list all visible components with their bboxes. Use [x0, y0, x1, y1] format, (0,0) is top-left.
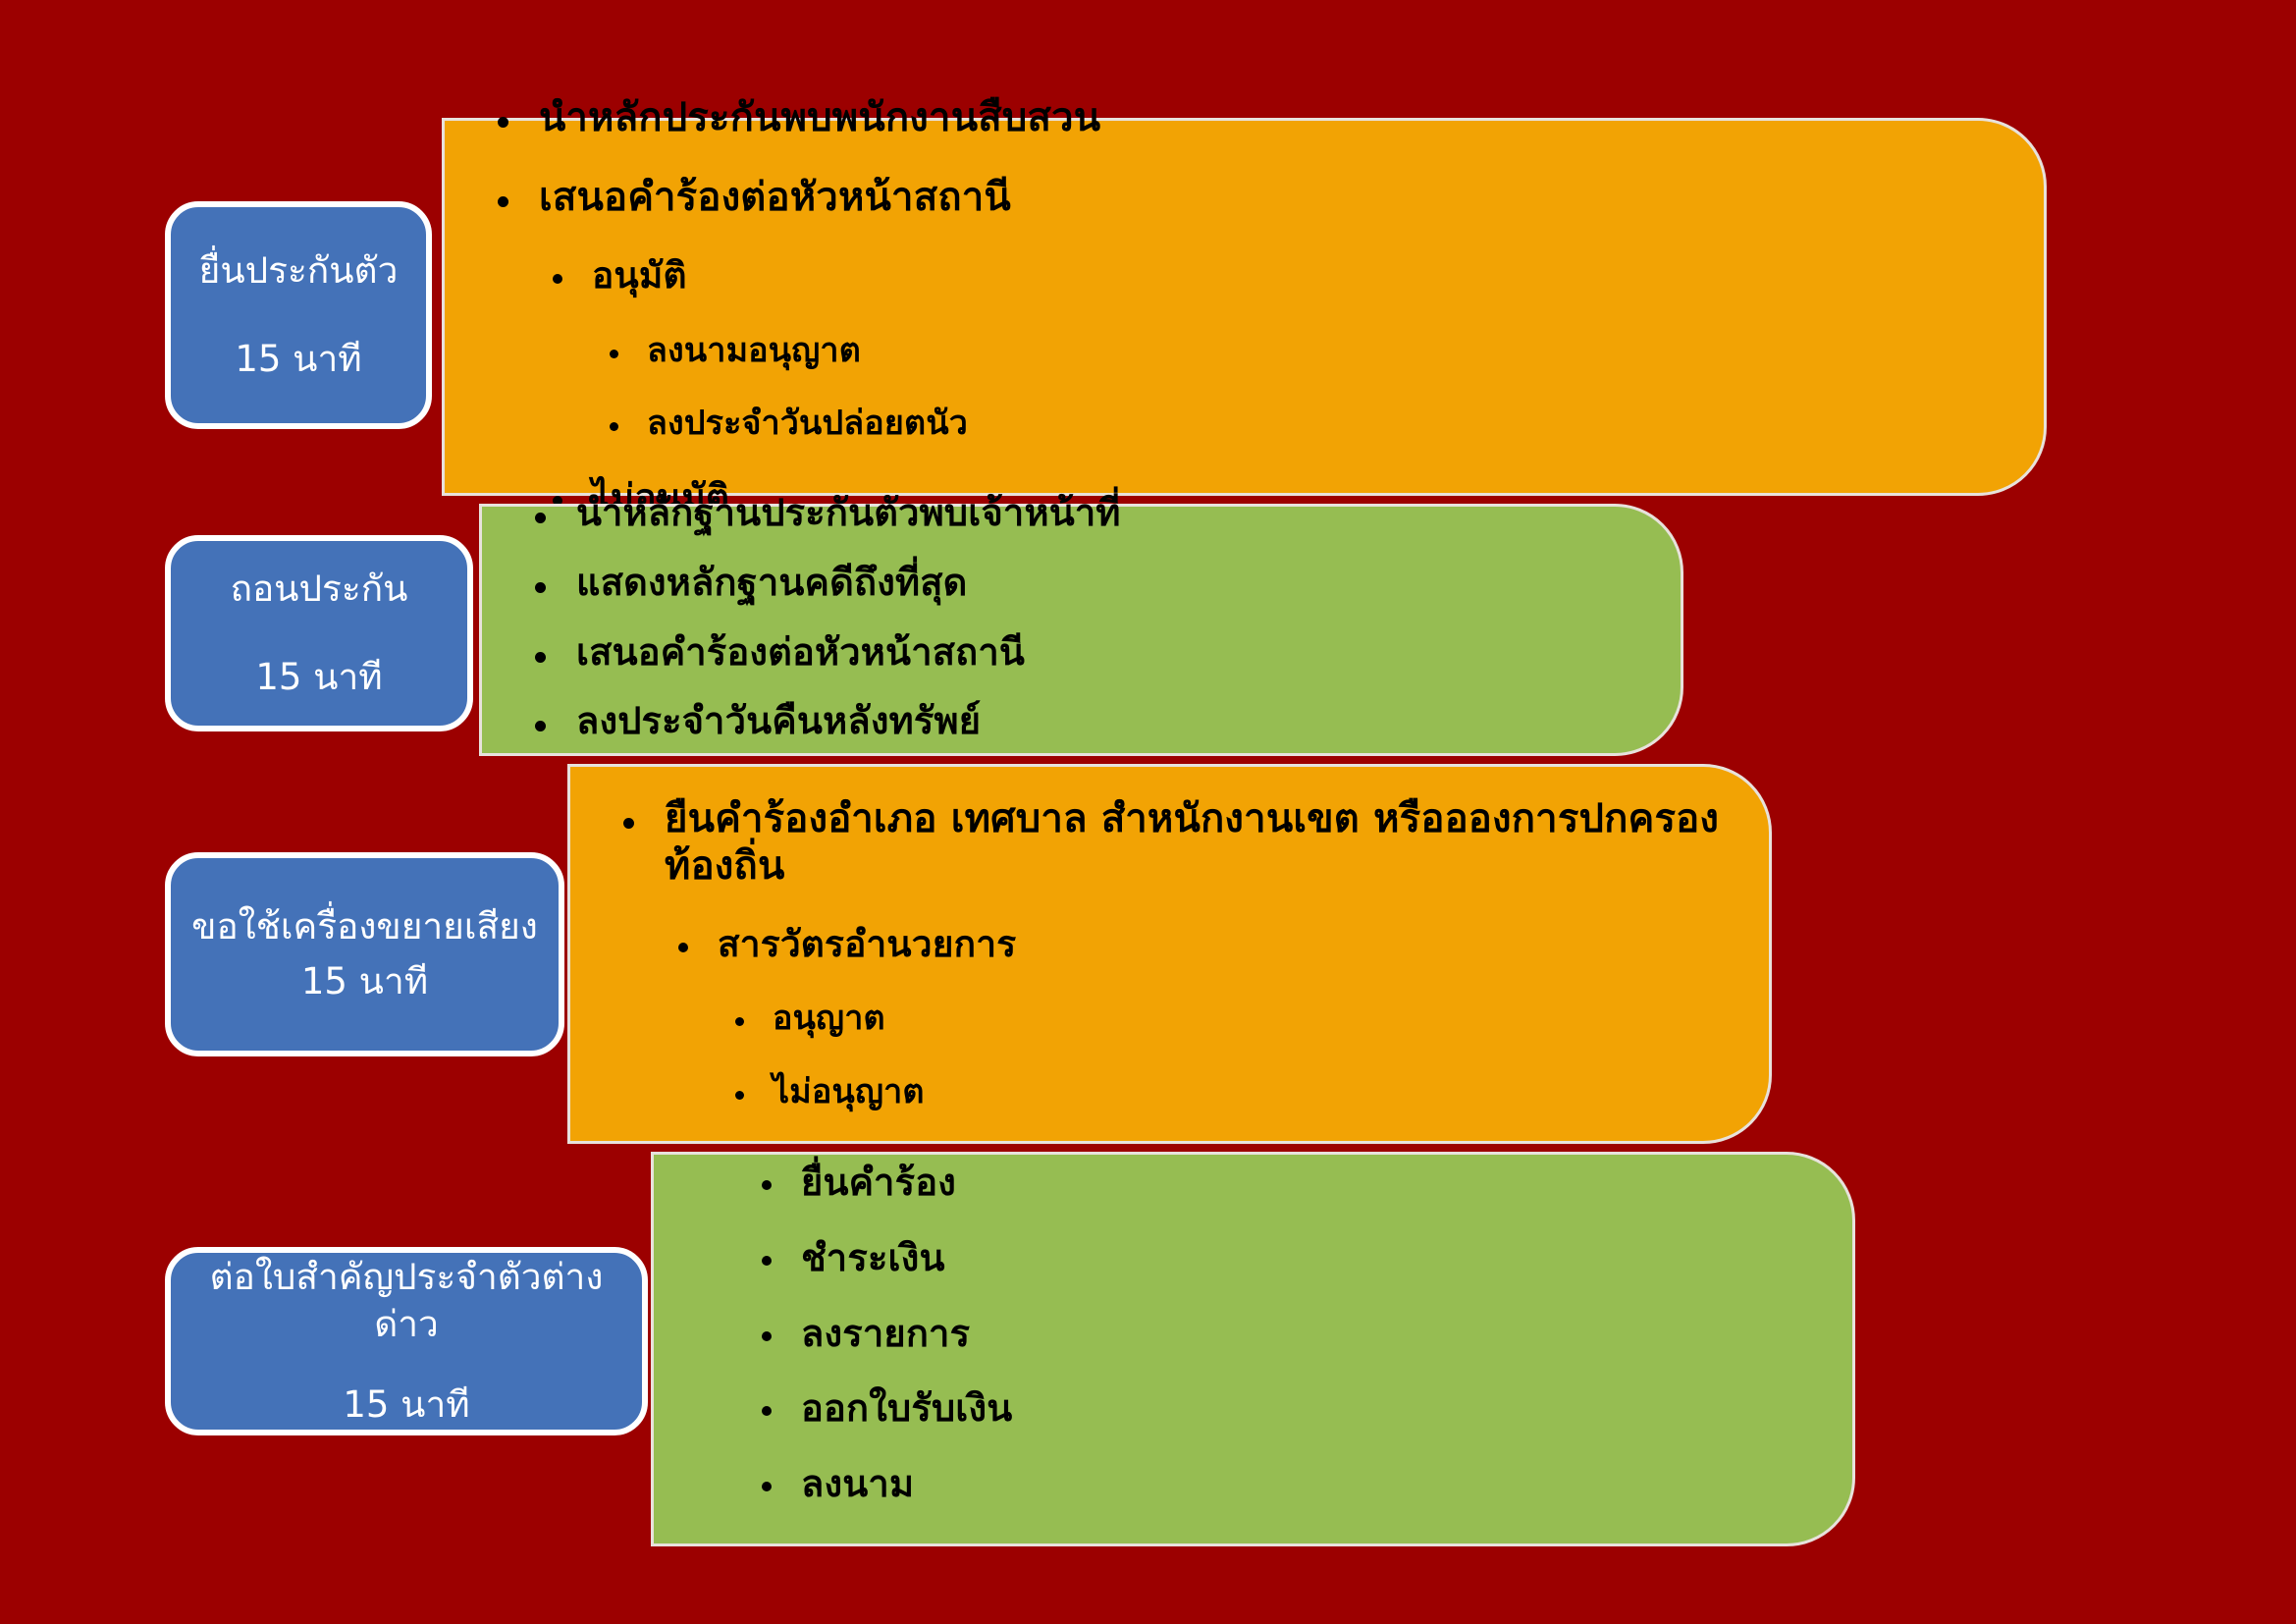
bullet-item: เสนอคำร้องต่อหัวหน้าสถานี: [539, 175, 2004, 221]
stage-label-box-1[interactable]: ยื่นประกันตัว 15 นาที: [165, 201, 432, 429]
stage-label-box-3[interactable]: ขอใช้เครื่องขยายเสียง 15 นาที: [165, 852, 564, 1056]
bullet-item: ยื่นคำร้อง: [801, 1161, 1813, 1205]
bullet-item: ลงรายการ: [801, 1312, 1813, 1356]
stage-duration: 15 นาที: [301, 958, 428, 1005]
bullet-item: สารวัตรอำนวยการ: [718, 923, 1730, 966]
bullet-item: นำหลักประกันพบพนักงานสืบสวน: [539, 95, 2004, 141]
stage-duration: 15 นาที: [343, 1381, 469, 1429]
bullet-item: นำหลักฐานประกันตัวพบเจ้าหน้าที่: [576, 491, 1641, 535]
stage-label-box-2[interactable]: ถอนประกัน 15 นาที: [165, 535, 473, 731]
stage-duration: 15 นาที: [235, 336, 361, 383]
content-panel-1: นำหลักประกันพบพนักงานสืบสวน เสนอคำร้องต่…: [442, 118, 2047, 496]
content-panel-2: นำหลักฐานประกันตัวพบเจ้าหน้าที่ แสดงหลัก…: [479, 504, 1683, 756]
bullet-item: เสนอคำร้องต่อหัวหน้าสถานี: [576, 630, 1641, 675]
stage-title: ถอนประกัน: [231, 566, 408, 613]
bullet-item: ไม่อนุญาต: [773, 1072, 1730, 1111]
bullet-item: ลงนามอนุญาต: [647, 331, 2004, 370]
bullet-item: ยืนคำร้องอำเภอ เทศบาล สำหนักงานเขต หรืออ…: [665, 796, 1730, 889]
bullet-item: ลงนาม: [801, 1462, 1813, 1506]
bullet-item: อนุมัติ: [592, 254, 2004, 298]
bullet-item: ออกใบรับเงิน: [801, 1386, 1813, 1431]
content-panel-4: ยื่นคำร้อง ชำระเงิน ลงรายการ ออกใบรับเงิ…: [651, 1152, 1855, 1546]
slide-canvas: นำหลักประกันพบพนักงานสืบสวน เสนอคำร้องต่…: [0, 0, 2296, 1624]
bullet-item: แสดงหลักฐานคดีถึงที่สุด: [576, 561, 1641, 605]
bullet-item: ลงประจำวันคืนหลังทรัพย์: [576, 699, 1641, 743]
bullet-item: ลงประจำวันปล่อยตนัว: [647, 404, 2004, 443]
bullet-item: อนุญาต: [773, 999, 1730, 1038]
bullet-item: ชำระเงิน: [801, 1236, 1813, 1280]
stage-duration: 15 นาที: [255, 654, 382, 701]
stage-title: ยื่นประกันตัว: [199, 247, 399, 295]
stage-title: ขอใช้เครื่องขยายเสียง: [191, 903, 538, 950]
stage-title: ต่อใบสำคัญประจำตัวต่าง ด่าว: [185, 1254, 628, 1348]
content-panel-3: ยืนคำร้องอำเภอ เทศบาล สำหนักงานเขต หรืออ…: [567, 764, 1772, 1144]
stage-label-box-4[interactable]: ต่อใบสำคัญประจำตัวต่าง ด่าว 15 นาที: [165, 1247, 648, 1435]
